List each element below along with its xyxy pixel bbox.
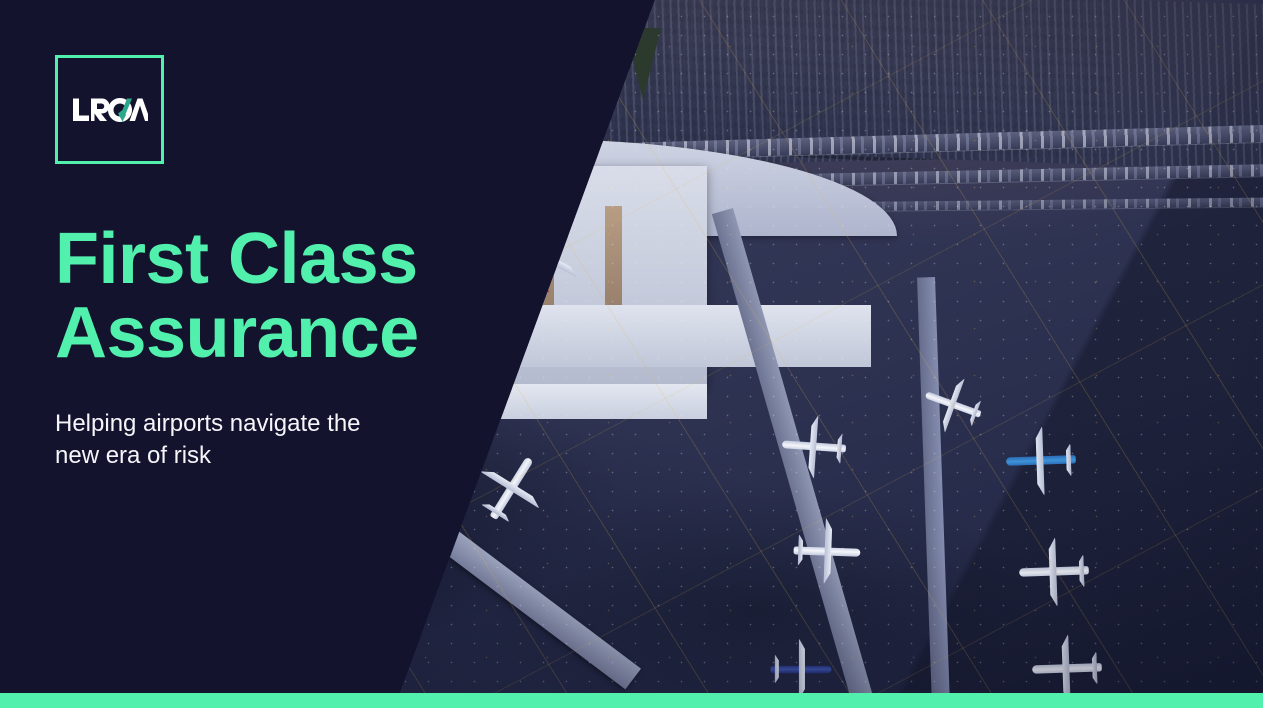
lrqa-logo-icon xyxy=(72,95,148,125)
page-subtitle-line-1: Helping airports navigate the xyxy=(55,410,361,437)
bottom-accent-bar xyxy=(0,693,1263,708)
page-title-line-1: First Class xyxy=(55,219,418,299)
page-title: First Class Assurance xyxy=(55,222,485,370)
page-subtitle: Helping airports navigate the new era of… xyxy=(55,408,395,471)
plane-tailplane xyxy=(521,273,552,292)
lrqa-logo-box xyxy=(55,55,164,164)
plane-gate-5 xyxy=(94,563,195,664)
slide-root: First Class Assurance Helping airports n… xyxy=(0,0,1263,708)
page-title-line-2: Assurance xyxy=(55,296,485,370)
plane-fuselage xyxy=(120,586,170,640)
plane-tailplane xyxy=(223,492,250,523)
plane-tailplane xyxy=(113,620,140,645)
page-subtitle-line-2: new era of risk xyxy=(55,440,395,472)
plane-wings xyxy=(117,587,172,638)
